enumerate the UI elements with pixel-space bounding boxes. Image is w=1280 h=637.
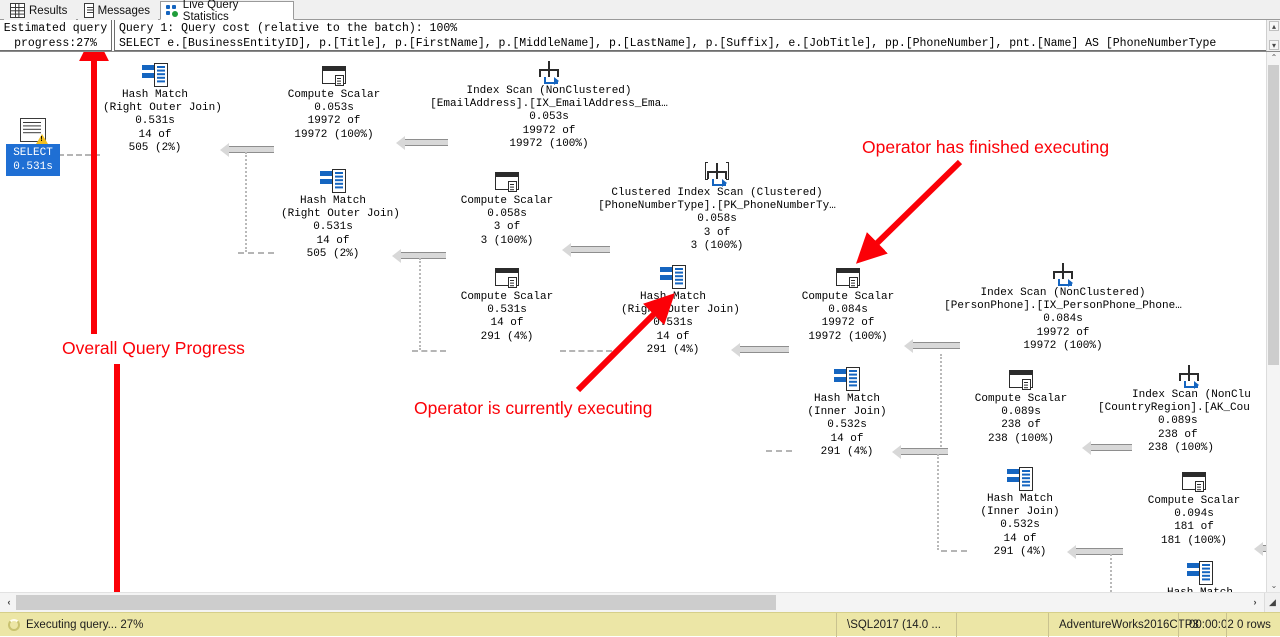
operator-line: Hash Match — [621, 291, 725, 304]
annotation-operator-finished: Operator has finished executing — [862, 137, 1109, 158]
operator-line: 0.094s — [1135, 508, 1253, 521]
query-cost-line: Query 1: Query cost (relative to the bat… — [119, 21, 1266, 36]
operator-line: [EmailAddress].[IX_EmailAddress_Ema… — [414, 98, 684, 111]
operator-line: 19972 of — [789, 317, 907, 330]
status-user — [956, 613, 1059, 637]
connector-hashmatch2-computescalar2 — [400, 252, 446, 259]
operator-line: (Inner Join) — [968, 506, 1072, 519]
select-result-icon — [20, 118, 46, 142]
clustered-index-scan-icon — [704, 160, 730, 186]
operator-line: 14 of — [103, 129, 207, 142]
query-scroll-down-button[interactable]: ▾ — [1269, 40, 1279, 50]
operator-hash-match-1[interactable]: Hash Match (Right Outer Join) 0.531s 14 … — [103, 62, 207, 155]
operator-line: 19972 (100%) — [275, 129, 393, 142]
warning-triangle-icon — [36, 134, 48, 144]
operator-hash-match-5[interactable]: Hash Match (Inner Join) 0.532s 14 of 291… — [968, 466, 1072, 559]
operator-line: 291 (4%) — [621, 344, 725, 357]
connector-hashmatch2-in — [238, 252, 274, 254]
operator-line: 14 of — [795, 433, 899, 446]
operator-line: 0.058s — [448, 208, 566, 221]
query-cost-and-sql-text: Query 1: Query cost (relative to the bat… — [114, 20, 1266, 51]
compute-scalar-icon — [1008, 366, 1034, 392]
plan-horizontal-scrollbar[interactable]: ‹ › ◢ — [0, 592, 1280, 612]
operator-line: (Right Outer Join) — [621, 304, 725, 317]
operator-line: 181 of — [1135, 521, 1253, 534]
connector-hashmatch5-branch — [1110, 554, 1112, 592]
results-tab-strip: Results Messages Live Query Statistics — [0, 0, 1280, 20]
hash-match-icon — [1187, 560, 1213, 586]
estimated-query-progress-line1: Estimated query — [0, 21, 111, 36]
estimated-query-progress-box: Estimated query progress:27% — [0, 20, 112, 51]
connector-hashmatch5-computescalar6 — [1075, 548, 1123, 555]
operator-line: [PersonPhone].[IX_PersonPhone_Phone… — [928, 300, 1198, 313]
operator-select[interactable]: SELECT 0.531s — [6, 118, 60, 176]
operator-line: (Right Outer Join) — [281, 208, 385, 221]
operator-index-scan-emailaddress[interactable]: Index Scan (NonClustered) [EmailAddress]… — [414, 58, 684, 151]
operator-line: Compute Scalar — [448, 291, 566, 304]
connector-select-hashmatch1 — [58, 154, 100, 156]
operator-line: Index Scan (NonClustered) — [414, 85, 684, 98]
operator-hash-match-2[interactable]: Hash Match (Right Outer Join) 0.531s 14 … — [281, 168, 385, 261]
operator-hash-match-6[interactable]: Hash Match — [1148, 560, 1252, 592]
plan-scroll-left-button[interactable]: ‹ — [2, 595, 16, 610]
operator-line: 3 of — [578, 227, 856, 240]
status-executing-text: Executing query... 27% — [26, 619, 143, 631]
operator-line: Hash Match — [103, 89, 207, 102]
plan-scroll-down-button[interactable]: ⌄ — [1268, 580, 1280, 592]
connector-hashmatch5-in — [941, 550, 967, 552]
connector-hashmatch3-computescalar4 — [739, 346, 789, 353]
operator-index-scan-countryregion[interactable]: Index Scan (NonClu [CountryRegion].[AK_C… — [1098, 362, 1280, 455]
busy-spinner-icon — [8, 619, 20, 631]
operator-line: 0.084s — [928, 313, 1198, 326]
connector-computescalar3-in — [412, 350, 446, 352]
operator-line: Index Scan (NonClustered) — [928, 287, 1198, 300]
operator-line: 14 of — [281, 235, 385, 248]
operator-line: 19972 of — [275, 115, 393, 128]
operator-line: Hash Match — [281, 195, 385, 208]
plan-resize-grip[interactable]: ◢ — [1264, 593, 1280, 612]
status-rows: 0 rows — [1226, 613, 1280, 637]
operator-compute-scalar-4[interactable]: Compute Scalar 0.084s 19972 of 19972 (10… — [789, 264, 907, 344]
operator-line: (Inner Join) — [795, 406, 899, 419]
operator-clustered-index-scan-phonenumbertype[interactable]: Clustered Index Scan (Clustered) [PhoneN… — [578, 160, 856, 253]
operator-line: Compute Scalar — [962, 393, 1080, 406]
operator-compute-scalar-2[interactable]: Compute Scalar 0.058s 3 of 3 (100%) — [448, 168, 566, 248]
operator-line: 3 (100%) — [448, 235, 566, 248]
operator-line: 3 of — [448, 221, 566, 234]
operator-line: Hash Match — [968, 493, 1072, 506]
operator-line: Clustered Index Scan (Clustered) — [578, 187, 856, 200]
operator-line: 238 (100%) — [1098, 442, 1280, 455]
operator-line: 14 of — [968, 533, 1072, 546]
index-scan-icon — [1176, 362, 1202, 388]
operator-line: 19972 (100%) — [789, 331, 907, 344]
plan-horizontal-scroll-thumb[interactable] — [16, 595, 776, 610]
hash-match-icon — [834, 366, 860, 392]
operator-line: 19972 (100%) — [414, 138, 684, 151]
operator-hash-match-3[interactable]: Hash Match (Right Outer Join) 0.531s 14 … — [621, 264, 725, 357]
execution-plan-canvas[interactable]: SELECT 0.531s Hash Match (Right Outer Jo… — [0, 52, 1280, 592]
operator-line: 238 of — [1098, 429, 1280, 442]
operator-line: Compute Scalar — [448, 195, 566, 208]
plan-vertical-scroll-thumb[interactable] — [1268, 65, 1279, 365]
operator-compute-scalar-5[interactable]: Compute Scalar 0.089s 238 of 238 (100%) — [962, 366, 1080, 446]
operator-line: 19972 of — [414, 125, 684, 138]
annotation-overall-query-progress: Overall Query Progress — [62, 338, 245, 359]
operator-line: [CountryRegion].[AK_Cou — [1098, 402, 1280, 415]
operator-line: 0.053s — [275, 102, 393, 115]
arrow-operator-finished — [868, 162, 960, 252]
connector-hashmatch1-computescalar1 — [228, 146, 274, 153]
operator-line: 0.531s — [103, 115, 207, 128]
hash-match-icon — [142, 62, 168, 88]
annotation-operator-executing: Operator is currently executing — [414, 398, 652, 419]
status-server: \SQL2017 (14.0 ... — [836, 613, 967, 637]
operator-line: 181 (100%) — [1135, 535, 1253, 548]
connector-hashmatch1-branch — [245, 152, 247, 252]
hash-match-icon — [320, 168, 346, 194]
connector-hashmatch4-branch — [937, 454, 939, 550]
tab-results[interactable]: Results — [4, 1, 76, 20]
connector-hashmatch4-in — [766, 450, 792, 452]
operator-line: Index Scan (NonClu — [1098, 389, 1280, 402]
operator-line: 0.089s — [1098, 415, 1280, 428]
hash-match-icon — [1007, 466, 1033, 492]
grid-icon — [10, 3, 25, 18]
tab-live-query-statistics-label: Live Query Statistics — [183, 0, 286, 23]
operator-line: 238 (100%) — [962, 433, 1080, 446]
operator-line: 291 (4%) — [968, 546, 1072, 559]
operator-line: (Right Outer Join) — [103, 102, 207, 115]
operator-select-label: SELECT — [10, 146, 56, 160]
connector-hashmatch2-branch — [419, 258, 421, 350]
operator-line: Compute Scalar — [1135, 495, 1253, 508]
query-header-vertical-scrollbar[interactable]: ▴ ▾ — [1266, 20, 1280, 51]
estimated-query-progress-line2: progress:27% — [0, 36, 111, 51]
operator-line: Hash Match — [795, 393, 899, 406]
operator-line: 14 of — [621, 331, 725, 344]
operator-compute-scalar-1[interactable]: Compute Scalar 0.053s 19972 of 19972 (10… — [275, 62, 393, 142]
query-header-panel: Estimated query progress:27% Query 1: Qu… — [0, 20, 1280, 52]
status-left-group: Executing query... 27% — [8, 613, 143, 637]
compute-scalar-icon — [835, 264, 861, 290]
compute-scalar-icon — [1181, 468, 1207, 494]
operator-line: 238 of — [962, 419, 1080, 432]
compute-scalar-icon — [494, 264, 520, 290]
messages-icon — [84, 3, 94, 18]
status-bar: Executing query... 27% \SQL2017 (14.0 ..… — [0, 612, 1280, 636]
operator-line: 3 (100%) — [578, 240, 856, 253]
operator-line: 0.531s — [621, 317, 725, 330]
tab-results-label: Results — [29, 5, 67, 17]
operator-line: 505 (2%) — [281, 248, 385, 261]
operator-line: 0.531s — [448, 304, 566, 317]
operator-index-scan-personphone[interactable]: Index Scan (NonClustered) [PersonPhone].… — [928, 260, 1198, 353]
plan-vertical-scrollbar[interactable]: ⌃ ⌄ — [1266, 52, 1280, 592]
operator-line: Compute Scalar — [275, 89, 393, 102]
operator-line: 0.089s — [962, 406, 1080, 419]
operator-line: 291 (4%) — [795, 446, 899, 459]
operator-line: 0.531s — [281, 221, 385, 234]
operator-line: 0.532s — [968, 519, 1072, 532]
operator-compute-scalar-6[interactable]: Compute Scalar 0.094s 181 of 181 (100%) — [1135, 468, 1253, 548]
hash-match-icon — [660, 264, 686, 290]
operator-line: Compute Scalar — [789, 291, 907, 304]
tab-messages[interactable]: Messages — [78, 1, 158, 20]
compute-scalar-icon — [321, 62, 347, 88]
operator-line: 505 (2%) — [103, 142, 207, 155]
operator-select-cost: 0.531s — [10, 160, 56, 174]
operator-line: [PhoneNumberType].[PK_PhoneNumberTy… — [578, 200, 856, 213]
operator-line: 14 of — [448, 317, 566, 330]
index-scan-icon — [536, 58, 562, 84]
query-sql-line: SELECT e.[BusinessEntityID], p.[Title], … — [119, 36, 1266, 51]
plan-scroll-up-button[interactable]: ⌃ — [1268, 52, 1280, 64]
connector-hashmatch3-branch — [940, 354, 942, 450]
live-query-statistics-icon — [166, 4, 179, 17]
operator-line: 19972 of — [928, 327, 1198, 340]
connector-computescalar3-hashmatch3 — [560, 350, 612, 352]
connector-hashmatch4-computescalar5 — [900, 448, 948, 455]
index-scan-icon — [1050, 260, 1076, 286]
tab-live-query-statistics[interactable]: Live Query Statistics — [160, 1, 294, 20]
query-scroll-up-button[interactable]: ▴ — [1269, 21, 1279, 31]
operator-line: 0.053s — [414, 111, 684, 124]
tab-messages-label: Messages — [98, 5, 150, 17]
operator-line: 0.058s — [578, 213, 856, 226]
plan-scroll-right-button[interactable]: › — [1248, 595, 1262, 610]
operator-line: 0.532s — [795, 419, 899, 432]
operator-hash-match-4[interactable]: Hash Match (Inner Join) 0.532s 14 of 291… — [795, 366, 899, 459]
operator-line: 19972 (100%) — [928, 340, 1198, 353]
compute-scalar-icon — [494, 168, 520, 194]
operator-line: 291 (4%) — [448, 331, 566, 344]
operator-compute-scalar-3[interactable]: Compute Scalar 0.531s 14 of 291 (4%) — [448, 264, 566, 344]
operator-line: 0.084s — [789, 304, 907, 317]
